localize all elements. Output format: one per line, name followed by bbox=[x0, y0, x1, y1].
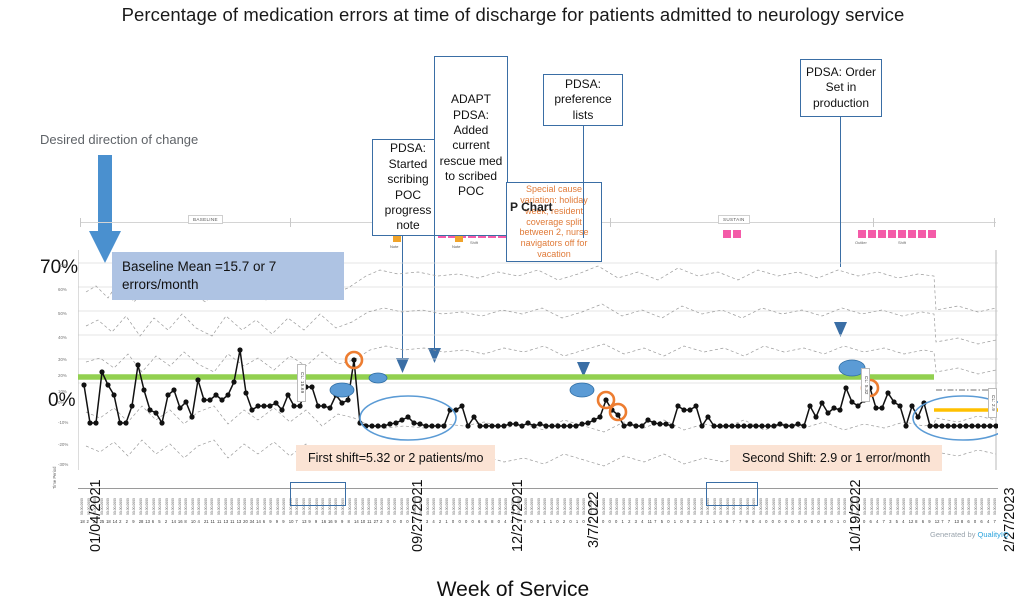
x-tick-date: 00-00-0000 bbox=[256, 498, 260, 515]
x-tick-value: 9 bbox=[726, 519, 728, 524]
x-tick-value: 14 bbox=[171, 519, 176, 524]
x-tick-value: 0 bbox=[817, 519, 819, 524]
note-marker-label: Note bbox=[452, 244, 460, 249]
x-tick-date: 00-00-0000 bbox=[615, 498, 619, 515]
x-tick-value: 0 bbox=[824, 519, 826, 524]
x-tick-date: 00-00-0000 bbox=[158, 498, 162, 515]
x-tick-value: 16 bbox=[321, 519, 326, 524]
x-axis-selection-box[interactable] bbox=[290, 482, 346, 506]
cl-label-3: CL: 2.9 bbox=[988, 388, 997, 418]
y-tick-label: -20% bbox=[58, 442, 68, 447]
x-tick-date: 00-00-0000 bbox=[948, 498, 952, 515]
x-tick-date: 00-00-0000 bbox=[648, 498, 652, 515]
x-tick-date: 00-00-0000 bbox=[537, 498, 541, 515]
x-tick-date: 00-00-0000 bbox=[967, 498, 971, 515]
x-tick-date: 00-00-0000 bbox=[478, 498, 482, 515]
x-tick-date: 00-00-0000 bbox=[843, 498, 847, 515]
x-tick-date: 00-00-0000 bbox=[804, 498, 808, 515]
leader-line bbox=[840, 117, 841, 267]
x-tick-value: 4 bbox=[902, 519, 904, 524]
x-tick-value: 0 bbox=[569, 519, 571, 524]
y-tick-label: 70% bbox=[58, 263, 67, 268]
x-tick-date: 00-00-0000 bbox=[445, 498, 449, 515]
x-tick-date: 00-00-0000 bbox=[224, 498, 228, 515]
x-tick-value: 11 bbox=[217, 519, 221, 524]
x-tick-date: 00-00-0000 bbox=[276, 498, 280, 515]
x-tick-date: 00-00-0000 bbox=[993, 498, 997, 515]
x-tick-value: 6 bbox=[478, 519, 480, 524]
x-tick-date: 00-00-0000 bbox=[954, 498, 958, 515]
x-tick-date: 00-00-0000 bbox=[452, 498, 456, 515]
x-tick-date: 00-00-0000 bbox=[113, 498, 117, 515]
x-tick-value: 8 bbox=[915, 519, 917, 524]
x-tick-value: 6 bbox=[485, 519, 487, 524]
x-tick-value: 0 bbox=[772, 519, 774, 524]
x-tick-value: 0 bbox=[556, 519, 558, 524]
down-arrow-icon bbox=[88, 155, 122, 265]
x-tick-date: 00-00-0000 bbox=[171, 498, 175, 515]
x-tick-date: 00-00-0000 bbox=[250, 498, 254, 515]
x-tick-value: 1 bbox=[543, 519, 545, 524]
x-tick-value: 0 bbox=[400, 519, 402, 524]
x-tick-value: 0 bbox=[830, 519, 832, 524]
x-tick-date: 00-00-0000 bbox=[654, 498, 658, 515]
x-tick-value: 1 bbox=[674, 519, 676, 524]
x-tick-value: 6 bbox=[967, 519, 969, 524]
x-tick-date: 00-00-0000 bbox=[465, 498, 469, 515]
x-tick-date: 00-00-0000 bbox=[791, 498, 795, 515]
x-tick-value: 1 bbox=[622, 519, 624, 524]
x-tick-value: 0 bbox=[615, 519, 617, 524]
x-tick-date: 00-00-0000 bbox=[152, 498, 156, 515]
x-tick-value: 9 bbox=[132, 519, 134, 524]
x-tick-date: 00-00-0000 bbox=[491, 498, 495, 515]
page-title: Percentage of medication errors at time … bbox=[0, 4, 1026, 26]
x-tick-date: 00-00-0000 bbox=[915, 498, 919, 515]
x-tick-value: 5 bbox=[158, 519, 160, 524]
x-tick-date: 00-00-0000 bbox=[896, 498, 900, 515]
first-shift-callout[interactable]: First shift=5.32 or 2 patients/mo bbox=[296, 445, 495, 471]
x-tick-value: 0 bbox=[498, 519, 500, 524]
x-tick-value: 13 bbox=[145, 519, 150, 524]
band-tick bbox=[873, 218, 874, 227]
x-tick-date: 00-00-0000 bbox=[870, 498, 874, 515]
note-marker-label: Note bbox=[390, 244, 398, 249]
x-tick-value: 4 bbox=[504, 519, 506, 524]
shift-mini-label-2: Shift bbox=[898, 240, 906, 245]
x-tick-value: 2 bbox=[628, 519, 630, 524]
x-tick-value: 11 bbox=[648, 519, 652, 524]
x-tick-date: 00-00-0000 bbox=[778, 498, 782, 515]
x-tick-value: 4 bbox=[197, 519, 199, 524]
x-tick-date: 00-00-0000 bbox=[471, 498, 475, 515]
x-tick-date: 00-00-0000 bbox=[237, 498, 241, 515]
x-tick-date: 00-00-0000 bbox=[902, 498, 906, 515]
x-tick-date: 00-00-0000 bbox=[641, 498, 645, 515]
x-tick-value: 9 bbox=[315, 519, 317, 524]
x-tick-date: 00-00-0000 bbox=[609, 498, 613, 515]
x-tick-value: 7 bbox=[295, 519, 297, 524]
x-date-label: 3/7/2022 bbox=[586, 492, 602, 548]
x-tick-value: 0 bbox=[680, 519, 682, 524]
x-tick-value: 9 bbox=[276, 519, 278, 524]
x-tick-date: 00-00-0000 bbox=[824, 498, 828, 515]
x-tick-date: 00-00-0000 bbox=[817, 498, 821, 515]
x-tick-date: 00-00-0000 bbox=[106, 498, 110, 515]
x-tick-date: 00-00-0000 bbox=[667, 498, 671, 515]
outlier-mini-label: Outlier bbox=[855, 240, 867, 245]
x-tick-value: 0 bbox=[393, 519, 395, 524]
desired-direction-label: Desired direction of change bbox=[40, 132, 198, 147]
x-tick-date: 00-00-0000 bbox=[700, 498, 704, 515]
x-tick-date: 00-00-0000 bbox=[674, 498, 678, 515]
x-tick-value: 2 bbox=[700, 519, 702, 524]
x-tick-date: 00-00-0000 bbox=[530, 498, 534, 515]
x-tick-value: 2 bbox=[126, 519, 128, 524]
leader-line bbox=[583, 126, 584, 238]
x-tick-date: 00-00-0000 bbox=[380, 498, 384, 515]
x-tick-date: 00-00-0000 bbox=[426, 498, 430, 515]
callout-pdsa-order-set[interactable]: PDSA: Order Set in production bbox=[800, 59, 882, 117]
cl-label-1: CL: 15.69 bbox=[297, 364, 306, 402]
x-tick-date: 00-00-0000 bbox=[928, 498, 932, 515]
x-tick-value: 11 bbox=[367, 519, 371, 524]
x-tick-value: 0 bbox=[609, 519, 611, 524]
x-tick-date: 00-00-0000 bbox=[243, 498, 247, 515]
x-tick-date: 00-00-0000 bbox=[191, 498, 195, 515]
callout-adapt-pdsa[interactable]: ADAPT PDSA: Added current rescue med to … bbox=[434, 56, 508, 236]
x-tick-value: 1 bbox=[837, 519, 839, 524]
x-tick-date: 00-00-0000 bbox=[798, 498, 802, 515]
x-tick-value: 13 bbox=[237, 519, 242, 524]
x-tick-date: 00-00-0000 bbox=[563, 498, 567, 515]
x-tick-date: 00-00-0000 bbox=[269, 498, 273, 515]
x-tick-date: 00-00-0000 bbox=[622, 498, 626, 515]
x-tick-date: 00-00-0000 bbox=[230, 498, 234, 515]
x-tick-value: 10 bbox=[361, 519, 366, 524]
x-tick-date: 00-00-0000 bbox=[876, 498, 880, 515]
x-tick-value: 4 bbox=[432, 519, 434, 524]
x-tick-value: 0 bbox=[804, 519, 806, 524]
x-tick-value: 7 bbox=[993, 519, 995, 524]
p-chart-label: P Chart bbox=[510, 200, 552, 214]
x-tick-value: 34 bbox=[250, 519, 255, 524]
y-tick-label: 60% bbox=[58, 287, 67, 292]
y-axis-label-70: 70% bbox=[40, 257, 78, 279]
x-tick-value: 0 bbox=[465, 519, 467, 524]
phase-band-sustain: SUSTAIN bbox=[718, 215, 750, 224]
x-tick-value: 0 bbox=[458, 519, 460, 524]
y-tick-label: 10% bbox=[58, 389, 67, 394]
x-tick-date: 00-00-0000 bbox=[485, 498, 489, 515]
x-tick-date: 00-00-0000 bbox=[837, 498, 841, 515]
x-date-label: 2/27/2023 bbox=[1002, 487, 1018, 552]
x-tick-date: 00-00-0000 bbox=[693, 498, 697, 515]
x-tick-value: 9 bbox=[928, 519, 930, 524]
x-tick-date: 00-00-0000 bbox=[263, 498, 267, 515]
x-tick-date: 00-00-0000 bbox=[354, 498, 358, 515]
x-tick-date: 00-00-0000 bbox=[785, 498, 789, 515]
x-tick-date: 00-00-0000 bbox=[961, 498, 965, 515]
x-tick-value: 0 bbox=[471, 519, 473, 524]
x-tick-value: 7 bbox=[941, 519, 943, 524]
x-tick-value: 9 bbox=[341, 519, 343, 524]
x-tick-value: 6 bbox=[980, 519, 982, 524]
x-tick-value: 0 bbox=[765, 519, 767, 524]
x-tick-value: 2 bbox=[165, 519, 167, 524]
band-tick bbox=[80, 218, 81, 227]
x-tick-value: 9 bbox=[334, 519, 336, 524]
x-tick-date: 00-00-0000 bbox=[165, 498, 169, 515]
x-tick-date: 00-00-0000 bbox=[387, 498, 391, 515]
x-tick-value: 13 bbox=[302, 519, 307, 524]
x-tick-date: 00-00-0000 bbox=[550, 498, 554, 515]
y-tick-label: 30% bbox=[58, 357, 67, 362]
second-shift-callout[interactable]: Second Shift: 2.9 or 1 error/month bbox=[730, 445, 942, 471]
x-tick-value: 9 bbox=[308, 519, 310, 524]
x-tick-date: 00-00-0000 bbox=[400, 498, 404, 515]
x-axis-title: Week of Service bbox=[0, 578, 1026, 602]
y-tick-label: 50% bbox=[58, 311, 67, 316]
x-tick-value: 10 bbox=[289, 519, 294, 524]
x-tick-date: 00-00-0000 bbox=[883, 498, 887, 515]
x-axis-selection-box[interactable] bbox=[706, 482, 758, 506]
x-tick-date: 00-00-0000 bbox=[204, 498, 208, 515]
x-tick-value: 0 bbox=[719, 519, 721, 524]
x-tick-value: 7 bbox=[732, 519, 734, 524]
baseline-mean-callout: Baseline Mean =15.7 or 7 errors/month bbox=[112, 252, 344, 300]
x-tick-date: 00-00-0000 bbox=[811, 498, 815, 515]
y-tick-label: 40% bbox=[58, 335, 67, 340]
x-tick-value: 7 bbox=[654, 519, 656, 524]
x-tick-date: 00-00-0000 bbox=[498, 498, 502, 515]
x-tick-date: 00-00-0000 bbox=[759, 498, 763, 515]
x-tick-value: 13 bbox=[954, 519, 959, 524]
x-tick-value: 2 bbox=[380, 519, 382, 524]
x-tick-value: 0 bbox=[452, 519, 454, 524]
x-tick-value: 11 bbox=[210, 519, 214, 524]
x-tick-date: 00-00-0000 bbox=[217, 498, 221, 515]
x-tick-value: 0 bbox=[791, 519, 793, 524]
x-tick-date: 00-00-0000 bbox=[184, 498, 188, 515]
shift-mini-label: Shift bbox=[470, 240, 478, 245]
watermark: Generated by QualityIQ bbox=[930, 530, 1009, 539]
x-tick-date: 00-00-0000 bbox=[687, 498, 691, 515]
x-tick-value: 4 bbox=[641, 519, 643, 524]
watermark-brand: QualityIQ bbox=[978, 530, 1009, 539]
x-tick-value: 4 bbox=[759, 519, 761, 524]
x-tick-value: 3 bbox=[693, 519, 695, 524]
x-tick-value: 0 bbox=[974, 519, 976, 524]
x-date-label: 09/27/2021 bbox=[410, 479, 426, 552]
x-tick-value: 13 bbox=[224, 519, 229, 524]
x-tick-value: 6 bbox=[922, 519, 924, 524]
x-tick-date: 00-00-0000 bbox=[980, 498, 984, 515]
x-date-label: 10/19/2022 bbox=[848, 479, 864, 552]
x-tick-date: 00-00-0000 bbox=[432, 498, 436, 515]
x-tick-value: 0 bbox=[406, 519, 408, 524]
phase-band-baseline: BASELINE bbox=[188, 215, 223, 224]
band-tick bbox=[610, 218, 611, 227]
x-tick-value: 0 bbox=[798, 519, 800, 524]
x-tick-date: 00-00-0000 bbox=[543, 498, 547, 515]
x-tick-value: 10 bbox=[191, 519, 196, 524]
x-tick-date: 00-00-0000 bbox=[282, 498, 286, 515]
x-date-label: 12/27/2021 bbox=[510, 479, 526, 552]
x-tick-value: 14 bbox=[256, 519, 261, 524]
x-tick-value: 0 bbox=[667, 519, 669, 524]
x-tick-date: 00-00-0000 bbox=[210, 498, 214, 515]
x-tick-value: 7 bbox=[739, 519, 741, 524]
x-tick-value: 1 bbox=[550, 519, 552, 524]
x-tick-value: 18 bbox=[80, 519, 85, 524]
x-tick-value: 0 bbox=[811, 519, 813, 524]
x-tick-value: 0 bbox=[537, 519, 539, 524]
x-tick-value: 16 bbox=[328, 519, 333, 524]
x-tick-date: 00-00-0000 bbox=[132, 498, 136, 515]
x-tick-date: 00-00-0000 bbox=[80, 498, 84, 515]
x-tick-date: 00-00-0000 bbox=[197, 498, 201, 515]
cl-label-2: CL: 5.32 bbox=[861, 368, 870, 402]
x-tick-value: 2 bbox=[119, 519, 121, 524]
x-tick-date: 00-00-0000 bbox=[374, 498, 378, 515]
x-tick-value: 20 bbox=[243, 519, 248, 524]
x-tick-value: 4 bbox=[876, 519, 878, 524]
x-tick-value: 6 bbox=[870, 519, 872, 524]
x-tick-date: 00-00-0000 bbox=[556, 498, 560, 515]
x-tick-value: 0 bbox=[843, 519, 845, 524]
x-tick-date: 00-00-0000 bbox=[361, 498, 365, 515]
x-tick-date: 00-00-0000 bbox=[889, 498, 893, 515]
time-period-label: Time Period bbox=[52, 467, 57, 489]
x-tick-value: 1 bbox=[713, 519, 715, 524]
x-tick-value: 28 bbox=[139, 519, 144, 524]
x-tick-date: 00-00-0000 bbox=[504, 498, 508, 515]
x-tick-date: 00-00-0000 bbox=[439, 498, 443, 515]
x-tick-date: 00-00-0000 bbox=[458, 498, 462, 515]
x-tick-date: 00-00-0000 bbox=[935, 498, 939, 515]
x-tick-value: 2 bbox=[563, 519, 565, 524]
x-tick-value: 0 bbox=[752, 519, 754, 524]
x-tick-value: 0 bbox=[530, 519, 532, 524]
x-tick-date: 00-00-0000 bbox=[145, 498, 149, 515]
x-tick-date: 00-00-0000 bbox=[987, 498, 991, 515]
x-tick-date: 00-00-0000 bbox=[576, 498, 580, 515]
x-tick-value: 3 bbox=[889, 519, 891, 524]
x-tick-value: 14 bbox=[113, 519, 118, 524]
band-tick bbox=[290, 218, 291, 227]
x-tick-value: 1 bbox=[445, 519, 447, 524]
x-tick-value: 1 bbox=[576, 519, 578, 524]
x-tick-value: 8 bbox=[184, 519, 186, 524]
x-tick-date: 00-00-0000 bbox=[661, 498, 665, 515]
x-tick-value: 0 bbox=[687, 519, 689, 524]
band-tick bbox=[994, 218, 995, 227]
x-tick-value: 9 bbox=[269, 519, 271, 524]
y-tick-label: 20% bbox=[58, 373, 67, 378]
x-tick-date: 00-00-0000 bbox=[941, 498, 945, 515]
x-tick-value: 0 bbox=[602, 519, 604, 524]
x-tick-value: 0 bbox=[582, 519, 584, 524]
x-tick-value: 1 bbox=[706, 519, 708, 524]
x-tick-date: 00-00-0000 bbox=[830, 498, 834, 515]
x-tick-date: 00-00-0000 bbox=[367, 498, 371, 515]
x-tick-date: 00-00-0000 bbox=[628, 498, 632, 515]
x-tick-value: 12 bbox=[935, 519, 940, 524]
x-tick-date: 00-00-0000 bbox=[765, 498, 769, 515]
x-tick-value: 3 bbox=[635, 519, 637, 524]
x-tick-date: 00-00-0000 bbox=[139, 498, 143, 515]
watermark-prefix: Generated by bbox=[930, 530, 978, 539]
x-date-label: 01/04/2021 bbox=[88, 479, 104, 552]
x-tick-value: 8 bbox=[348, 519, 350, 524]
x-tick-value: 0 bbox=[387, 519, 389, 524]
x-tick-date: 00-00-0000 bbox=[602, 498, 606, 515]
baseline-mean-text: Baseline Mean =15.7 or 7 errors/month bbox=[122, 258, 334, 294]
x-tick-value: 0 bbox=[778, 519, 780, 524]
x-tick-value: 12 bbox=[909, 519, 914, 524]
x-tick-value: 9 bbox=[282, 519, 284, 524]
x-tick-value: 11 bbox=[230, 519, 234, 524]
x-tick-value: 14 bbox=[354, 519, 359, 524]
x-tick-date: 00-00-0000 bbox=[635, 498, 639, 515]
x-tick-date: 00-00-0000 bbox=[772, 498, 776, 515]
x-tick-value: 27 bbox=[374, 519, 379, 524]
x-tick-date: 00-00-0000 bbox=[348, 498, 352, 515]
y-tick-label: -10% bbox=[58, 420, 68, 425]
x-tick-value: 0 bbox=[785, 519, 787, 524]
x-tick-value: 8 bbox=[961, 519, 963, 524]
x-tick-date: 00-00-0000 bbox=[922, 498, 926, 515]
x-tick-date: 00-00-0000 bbox=[126, 498, 130, 515]
x-tick-date: 00-00-0000 bbox=[680, 498, 684, 515]
x-tick-value: 2 bbox=[439, 519, 441, 524]
x-tick-value: 7 bbox=[883, 519, 885, 524]
x-tick-value: 4 bbox=[987, 519, 989, 524]
x-tick-value: 18 bbox=[106, 519, 111, 524]
x-tick-value: 6 bbox=[152, 519, 154, 524]
x-tick-value: 21 bbox=[204, 519, 209, 524]
x-tick-value: 7 bbox=[948, 519, 950, 524]
x-tick-date: 00-00-0000 bbox=[909, 498, 913, 515]
x-tick-date: 00-00-0000 bbox=[393, 498, 397, 515]
x-tick-value: 5 bbox=[896, 519, 898, 524]
x-tick-value: 8 bbox=[491, 519, 493, 524]
x-tick-value: 5 bbox=[661, 519, 663, 524]
highlight-ellipses bbox=[360, 396, 998, 440]
callout-pdsa-preference-lists[interactable]: PDSA: preference lists bbox=[543, 74, 623, 126]
x-tick-value: 6 bbox=[263, 519, 265, 524]
x-tick-date: 00-00-0000 bbox=[569, 498, 573, 515]
y-tick-label: 0% bbox=[58, 400, 64, 405]
x-tick-date: 00-00-0000 bbox=[119, 498, 123, 515]
x-tick-date: 00-00-0000 bbox=[178, 498, 182, 515]
x-tick-date: 00-00-0000 bbox=[974, 498, 978, 515]
x-tick-value: 16 bbox=[178, 519, 183, 524]
x-tick-value: 9 bbox=[746, 519, 748, 524]
y-tick-label: -30% bbox=[58, 462, 68, 467]
x-tick-value: 3 bbox=[426, 519, 428, 524]
